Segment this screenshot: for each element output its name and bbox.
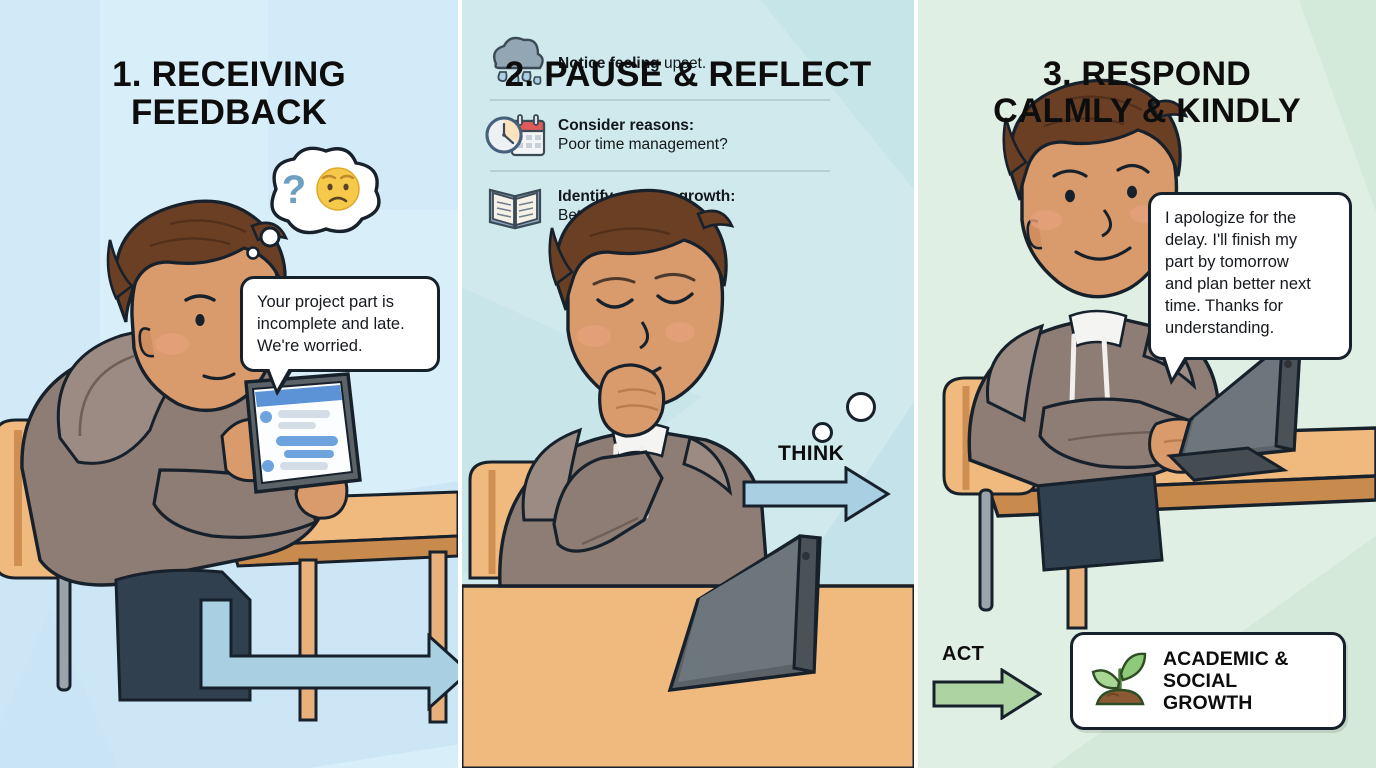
thought-bubble-confusion: ?	[246, 145, 386, 233]
panel-1-title: 1. RECEIVING FEEDBACK	[0, 56, 458, 132]
speech-bubble-tail-inner	[269, 368, 289, 389]
speech-line: incomplete and late.	[257, 315, 405, 333]
speech-bubble-feedback: Your project part is incomplete and late…	[240, 276, 440, 372]
infographic-root: ?	[0, 0, 1376, 768]
speech-line: delay. I'll finish my	[1165, 231, 1297, 249]
title-line: FEEDBACK	[0, 94, 458, 132]
title-line: 2. PAUSE & REFLECT	[462, 56, 914, 94]
speech-line: time. Thanks for	[1165, 297, 1283, 315]
worried-face-emoji	[317, 168, 359, 210]
flow-arrow-act	[932, 668, 1042, 720]
tablet-with-chat-messages	[246, 374, 360, 492]
flow-arrow-elbow-panel1-to-panel2	[195, 596, 458, 716]
title-line: CALMLY & KINDLY	[918, 93, 1376, 130]
question-mark-icon: ?	[282, 168, 306, 212]
speech-line: part by tomorrow	[1165, 253, 1289, 271]
panel-pause-and-reflect: Notice feeling upset.	[462, 0, 914, 768]
speech-line: and plan better next	[1165, 275, 1311, 293]
speech-line: We're worried.	[257, 337, 363, 355]
outcome-card-text: ACADEMIC & SOCIAL GROWTH	[1163, 648, 1329, 715]
outcome-line: SOCIAL GROWTH	[1163, 670, 1329, 714]
speech-bubble-text: I apologize for the delay. I'll finish m…	[1165, 208, 1335, 340]
flow-arrow-think	[742, 466, 892, 522]
panel-divider	[914, 0, 918, 768]
student-figure	[500, 190, 768, 586]
panel-2-title: 2. PAUSE & REFLECT	[462, 56, 914, 94]
title-line: 3. RESPOND	[918, 56, 1376, 93]
speech-line: understanding.	[1165, 319, 1274, 337]
svg-text:?: ?	[282, 168, 306, 212]
speech-line: Your project part is	[257, 293, 394, 311]
speech-line: I apologize for the	[1165, 209, 1296, 227]
speech-bubble-tail-inner	[1165, 356, 1185, 378]
outcome-line: ACADEMIC &	[1163, 648, 1329, 670]
thought-trail-bubble-large	[846, 392, 876, 422]
thought-trail-bubble-small	[812, 422, 833, 443]
panel-3-title: 3. RESPOND CALMLY & KINDLY	[918, 56, 1376, 129]
speech-bubble-response: I apologize for the delay. I'll finish m…	[1148, 192, 1352, 360]
seedling-sprout-icon	[1087, 648, 1153, 715]
scene-illustration-panel-2	[462, 0, 914, 768]
title-line: 1. RECEIVING	[0, 56, 458, 94]
think-arrow-label: THINK	[778, 442, 844, 466]
panel-divider	[458, 0, 462, 768]
speech-bubble-text: Your project part is incomplete and late…	[257, 292, 423, 358]
act-arrow-label: ACT	[942, 643, 984, 666]
outcome-card-academic-social-growth[interactable]: ACADEMIC & SOCIAL GROWTH	[1070, 632, 1346, 730]
